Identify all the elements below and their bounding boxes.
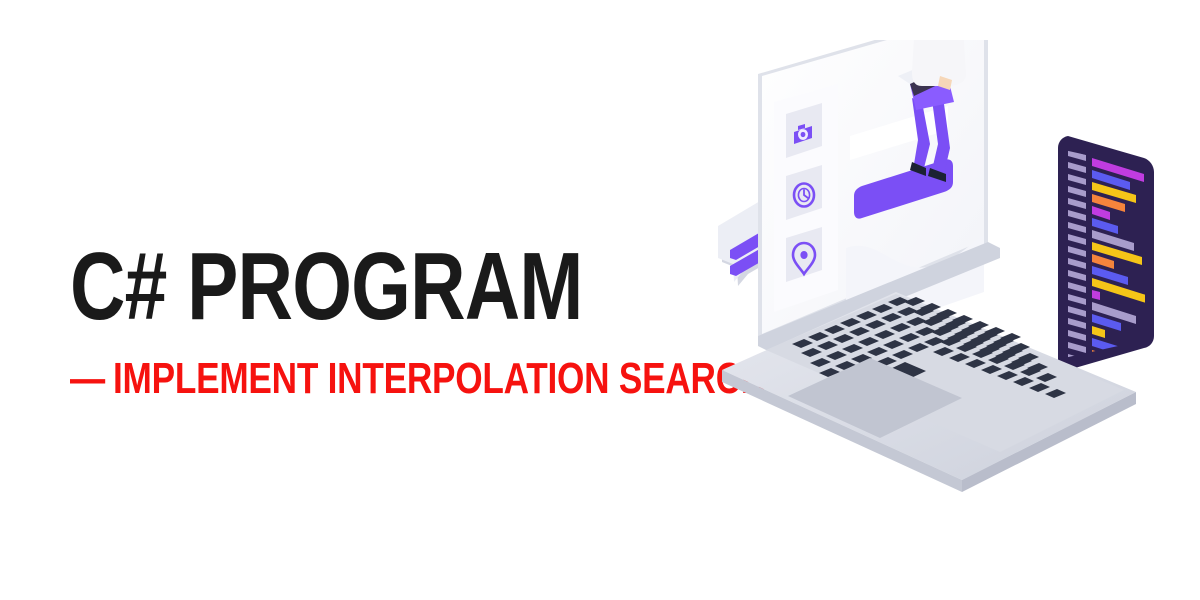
page-title: C# PROGRAM bbox=[70, 243, 566, 331]
heading-block: C# PROGRAM —IMPLEMENT INTERPOLATION SEAR… bbox=[70, 243, 690, 401]
isometric-developer-laptop-illustration bbox=[700, 40, 1200, 550]
subtitle-dash: — bbox=[70, 357, 105, 401]
page-subtitle: —IMPLEMENT INTERPOLATION SEARCH bbox=[70, 357, 566, 401]
code-editor-panel bbox=[1058, 136, 1154, 383]
banner-root: C# PROGRAM —IMPLEMENT INTERPOLATION SEAR… bbox=[0, 0, 1200, 600]
subtitle-text: IMPLEMENT INTERPOLATION SEARCH bbox=[113, 354, 766, 403]
illustration-svg bbox=[700, 40, 1200, 550]
